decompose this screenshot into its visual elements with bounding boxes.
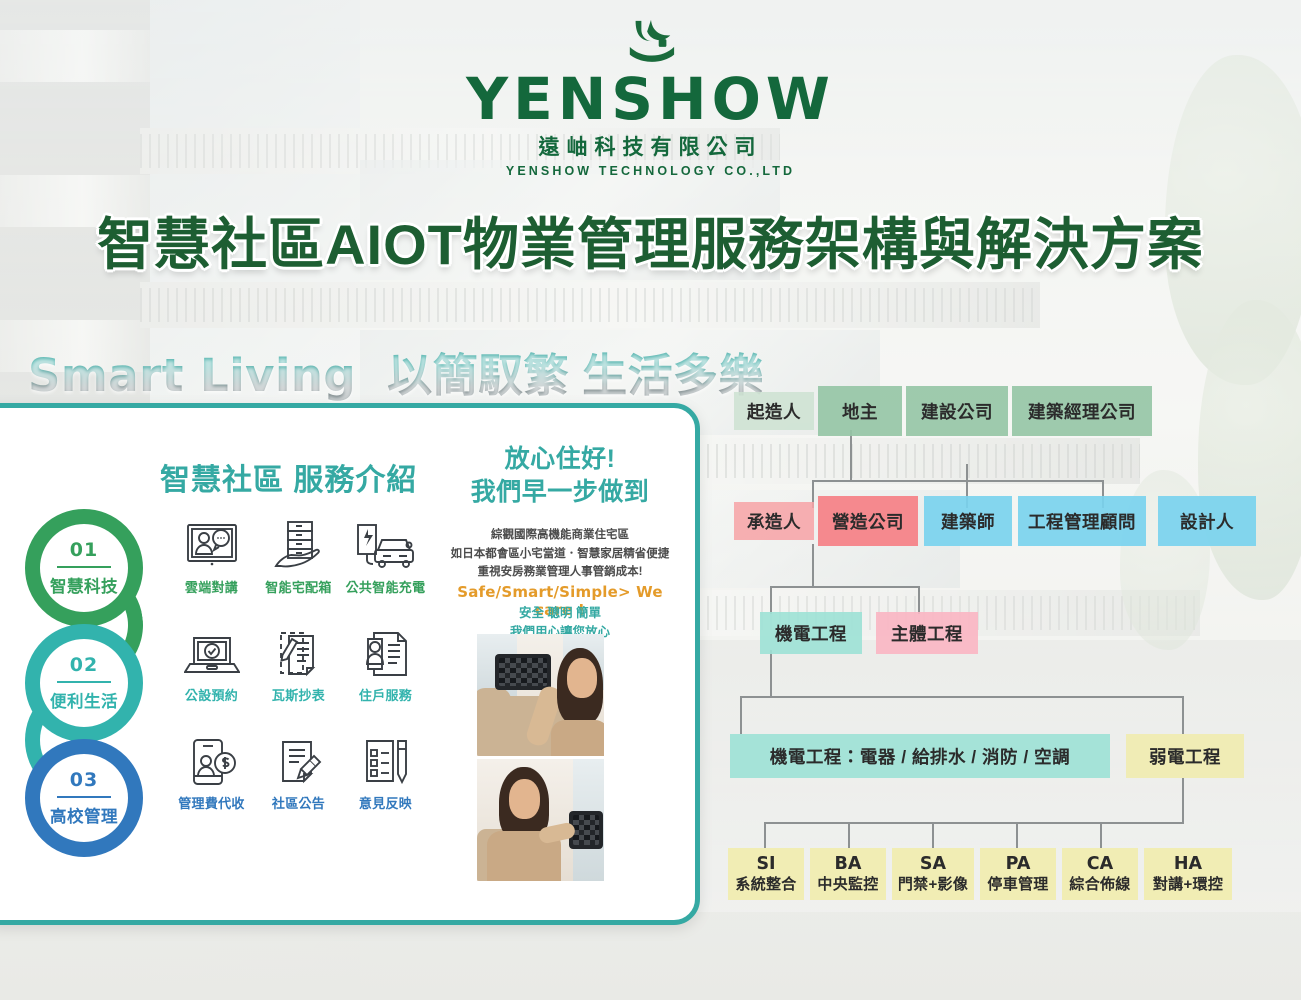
step-divider xyxy=(57,681,111,683)
service-item-label: 智能宅配箱 xyxy=(255,577,342,596)
org-leaf-ba[interactable]: BA 中央監控 xyxy=(810,848,886,900)
logo-wordmark: YENSHOW xyxy=(0,72,1301,127)
service-item-fee-collection[interactable]: 管理費代收 xyxy=(168,724,255,812)
service-icon-row-3: 管理費代收 社區公告 xyxy=(168,724,430,812)
org-node-label: 主體工程 xyxy=(891,621,963,646)
org-node-jianzhujingligongsi[interactable]: 建築經理公司 xyxy=(1012,386,1152,436)
connector-line xyxy=(918,586,920,614)
service-item-resident-service[interactable]: 住戶服務 xyxy=(342,616,429,704)
org-leaf-name: 對講+環控 xyxy=(1153,876,1223,894)
service-item-smart-locker[interactable]: 智能宅配箱 xyxy=(255,508,342,596)
service-item-video-intercom[interactable]: 雲端對講 xyxy=(168,508,255,596)
service-item-label: 公設預約 xyxy=(168,685,255,704)
org-node-qizaoren[interactable]: 起造人 xyxy=(734,392,814,430)
org-leaf-ha[interactable]: HA 對講+環控 xyxy=(1144,848,1232,900)
service-item-facility-booking[interactable]: 公設預約 xyxy=(168,616,255,704)
promise-line-2: 我們早一步做到 xyxy=(455,476,665,509)
description-line-1: 綜觀國際高機能商業住宅區 xyxy=(440,526,680,545)
ev-charging-icon xyxy=(342,508,429,570)
resident-service-icon xyxy=(342,616,429,678)
connector-line xyxy=(848,822,850,848)
service-item-label: 住戶服務 xyxy=(342,685,429,704)
org-node-label: 地主 xyxy=(842,399,878,424)
step-circle-03: 03 高校管理 xyxy=(25,739,143,857)
org-node-gongchengguanliguwen[interactable]: 工程管理顧問 xyxy=(1018,496,1146,546)
step-label: 高校管理 xyxy=(50,803,118,827)
description-paragraph: 綜觀國際高機能商業住宅區 如日本都會區小宅當道．智慧家居精省便捷 重視安房務業管… xyxy=(440,526,680,582)
step-number: 03 xyxy=(70,769,98,793)
gas-meter-reading-icon xyxy=(255,616,342,678)
service-item-feedback[interactable]: 意見反映 xyxy=(342,724,429,812)
tagline-chinese: 以簡馭繁 生活多樂 xyxy=(387,350,764,401)
step-circle-01: 01 智慧科技 xyxy=(25,509,143,627)
description-line-3: 重視安房務業管理人事管銷成本! xyxy=(440,563,680,582)
connector-line xyxy=(770,650,772,696)
org-node-label: 建築師 xyxy=(941,509,995,534)
tagline-english: Smart Living xyxy=(28,349,356,402)
org-leaf-name: 停車管理 xyxy=(987,876,1048,894)
org-leaf-name: 中央監控 xyxy=(817,876,878,894)
step-circle-02: 02 便利生活 xyxy=(25,624,143,742)
service-item-label: 雲端對講 xyxy=(168,577,255,596)
service-item-ev-charging[interactable]: 公共智能充電 xyxy=(342,508,429,596)
community-notice-icon xyxy=(255,724,342,786)
service-item-gas-meter[interactable]: 瓦斯抄表 xyxy=(255,616,342,704)
connector-line xyxy=(812,480,1102,482)
org-leaf-ca[interactable]: CA 綜合佈線 xyxy=(1062,848,1138,900)
service-item-label: 社區公告 xyxy=(255,793,342,812)
service-icon-row-1: 雲端對講 智能宅配箱 xyxy=(168,508,430,596)
org-node-jianzhushi[interactable]: 建築師 xyxy=(924,496,1012,546)
connector-line xyxy=(932,822,934,848)
org-node-label: 工程管理顧問 xyxy=(1028,509,1136,534)
step-divider xyxy=(57,566,111,568)
connector-line xyxy=(740,696,742,734)
org-leaf-name: 綜合佈線 xyxy=(1069,876,1130,894)
woman-touching-smart-keypad-panel-upper xyxy=(477,634,604,756)
org-node-label: 起造人 xyxy=(747,399,801,424)
promise-heading: 放心住好! 我們早一步做到 xyxy=(455,443,665,509)
service-item-label: 瓦斯抄表 xyxy=(255,685,342,704)
connector-line xyxy=(770,586,918,588)
org-leaf-code: SA xyxy=(920,854,946,875)
org-leaf-code: PA xyxy=(1006,854,1031,875)
yenshow-bird-logo-icon xyxy=(620,18,682,70)
org-node-label: 建設公司 xyxy=(921,399,993,424)
smart-parcel-locker-icon xyxy=(255,508,342,570)
logo-company-name-en: YENSHOW TECHNOLOGY CO.,LTD xyxy=(0,164,1301,178)
connector-line xyxy=(770,586,772,614)
org-leaf-code: HA xyxy=(1174,854,1202,875)
background-bottom-band xyxy=(0,912,1301,1000)
org-node-label: 機電工程：電器 / 給排水 / 消防 / 空調 xyxy=(770,744,1070,769)
tagline: Smart Living 以簡馭繁 生活多樂 xyxy=(28,339,764,404)
org-node-label: 設計人 xyxy=(1180,509,1234,534)
step-number: 02 xyxy=(70,654,98,678)
service-item-label: 公共智能充電 xyxy=(342,577,429,596)
connector-line xyxy=(1016,822,1018,848)
mobile-payment-icon xyxy=(168,724,255,786)
promise-line-1: 放心住好! xyxy=(455,443,665,476)
service-item-label: 意見反映 xyxy=(342,793,429,812)
service-icon-grid: 雲端對講 智能宅配箱 xyxy=(168,508,430,832)
org-leaf-code: BA xyxy=(835,854,862,875)
service-item-label: 管理費代收 xyxy=(168,793,255,812)
connector-line xyxy=(812,544,814,586)
org-node-label: 營造公司 xyxy=(832,509,904,534)
connector-line xyxy=(740,696,1182,698)
org-node-ruodiangongcheng[interactable]: 弱電工程 xyxy=(1126,734,1244,778)
laptop-booking-icon xyxy=(168,616,255,678)
org-node-dizhu[interactable]: 地主 xyxy=(818,386,902,436)
slogan-chinese-line-1: 安全 聰明 簡單 xyxy=(440,604,680,623)
org-leaf-sa[interactable]: SA 門禁+影像 xyxy=(892,848,974,900)
description-line-2: 如日本都會區小宅當道．智慧家居精省便捷 xyxy=(440,545,680,564)
video-intercom-icon xyxy=(168,508,255,570)
org-node-label: 機電工程 xyxy=(775,621,847,646)
org-leaf-si[interactable]: SI 系統整合 xyxy=(728,848,804,900)
connector-line xyxy=(764,822,1184,824)
connector-line xyxy=(764,822,766,848)
feedback-checklist-icon xyxy=(342,724,429,786)
org-leaf-name: 系統整合 xyxy=(735,876,796,894)
service-icon-row-2: 公設預約 瓦斯抄表 xyxy=(168,616,430,704)
org-node-label: 建築經理公司 xyxy=(1028,399,1136,424)
org-node-jidiangongcheng[interactable]: 機電工程 xyxy=(760,612,862,654)
org-leaf-code: SI xyxy=(756,854,775,875)
org-node-label: 承造人 xyxy=(747,509,801,534)
connector-line xyxy=(1100,822,1102,848)
org-node-label: 弱電工程 xyxy=(1149,744,1221,769)
connector-line xyxy=(1182,696,1184,734)
service-section-title: 智慧社區 服務介紹 xyxy=(160,455,417,499)
step-number: 01 xyxy=(70,539,98,563)
org-node-shejiren[interactable]: 設計人 xyxy=(1158,496,1256,546)
page-title: 智慧社區AIOT物業管理服務架構與解決方案 xyxy=(0,200,1301,281)
org-chart: 起造人 地主 建設公司 建築經理公司 承造人 營造公司 建築師 工程管理顧問 設… xyxy=(718,386,1301,916)
connector-line xyxy=(850,430,852,480)
step-divider xyxy=(57,796,111,798)
woman-touching-smart-keypad-panel-lower xyxy=(477,759,604,881)
promo-photo-stack xyxy=(477,634,604,884)
org-node-chengzaoren[interactable]: 承造人 xyxy=(734,502,814,540)
org-node-yingzaogongsi[interactable]: 營造公司 xyxy=(818,496,918,546)
brand-logo: YENSHOW 遠岫科技有限公司 YENSHOW TECHNOLOGY CO.,… xyxy=(0,18,1301,178)
step-label: 便利生活 xyxy=(50,688,118,712)
org-leaf-name: 門禁+影像 xyxy=(898,876,968,894)
org-leaf-code: CA xyxy=(1087,854,1113,875)
logo-company-name-zh: 遠岫科技有限公司 xyxy=(0,131,1301,161)
connector-line xyxy=(1182,778,1184,822)
org-node-jidian-detail[interactable]: 機電工程：電器 / 給排水 / 消防 / 空調 xyxy=(730,734,1110,778)
org-node-zhutigongcheng[interactable]: 主體工程 xyxy=(876,612,978,654)
org-leaf-pa[interactable]: PA 停車管理 xyxy=(980,848,1056,900)
step-label: 智慧科技 xyxy=(50,573,118,597)
service-item-community-notice[interactable]: 社區公告 xyxy=(255,724,342,812)
org-node-jianshegongsi[interactable]: 建設公司 xyxy=(906,386,1008,436)
